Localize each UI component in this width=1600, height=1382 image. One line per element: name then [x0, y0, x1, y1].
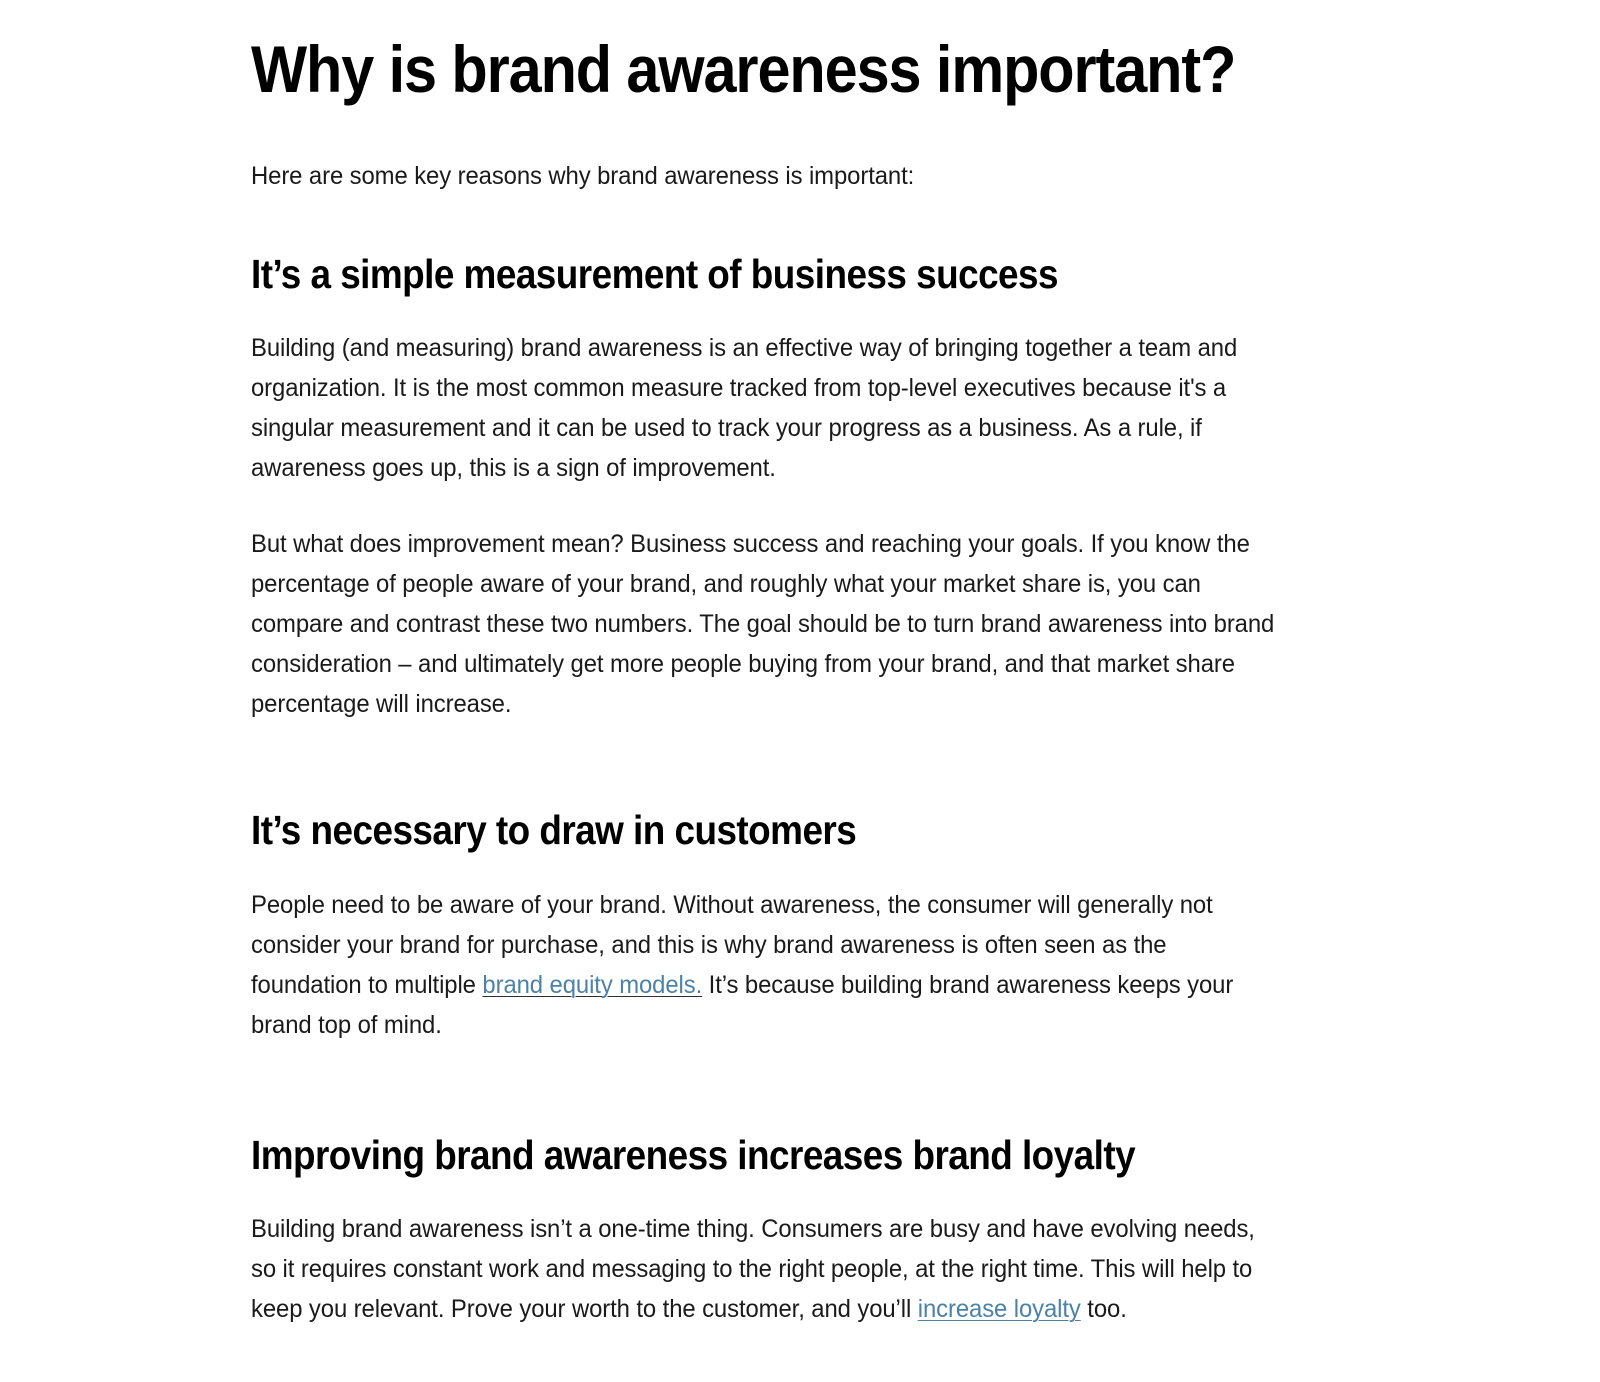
paragraph: Building (and measuring) brand awareness…: [251, 328, 1281, 488]
article-page: Why is brand awareness important? Here a…: [0, 0, 1600, 1382]
article-body: Why is brand awareness important? Here a…: [0, 0, 1600, 1329]
section-heading: It’s a simple measurement of business su…: [251, 250, 1222, 298]
link-brand-equity-models[interactable]: brand equity models.: [482, 971, 702, 999]
paragraph: People need to be aware of your brand. W…: [251, 885, 1281, 1045]
paragraph: But what does improvement mean? Business…: [251, 524, 1281, 724]
section-heading: It’s necessary to draw in customers: [251, 806, 1222, 854]
section-business-success: It’s a simple measurement of business su…: [251, 250, 1330, 724]
section-draw-in-customers: It’s necessary to draw in customers Peop…: [251, 806, 1330, 1044]
intro-paragraph: Here are some key reasons why brand awar…: [251, 157, 1281, 196]
page-title: Why is brand awareness important?: [251, 34, 1222, 105]
paragraph: Building brand awareness isn’t a one-tim…: [251, 1209, 1281, 1329]
section-brand-loyalty: Improving brand awareness increases bran…: [251, 1131, 1330, 1329]
paragraph-text-after-link: too.: [1081, 1295, 1127, 1323]
link-increase-loyalty[interactable]: increase loyalty: [918, 1295, 1081, 1323]
section-heading: Improving brand awareness increases bran…: [251, 1131, 1222, 1179]
